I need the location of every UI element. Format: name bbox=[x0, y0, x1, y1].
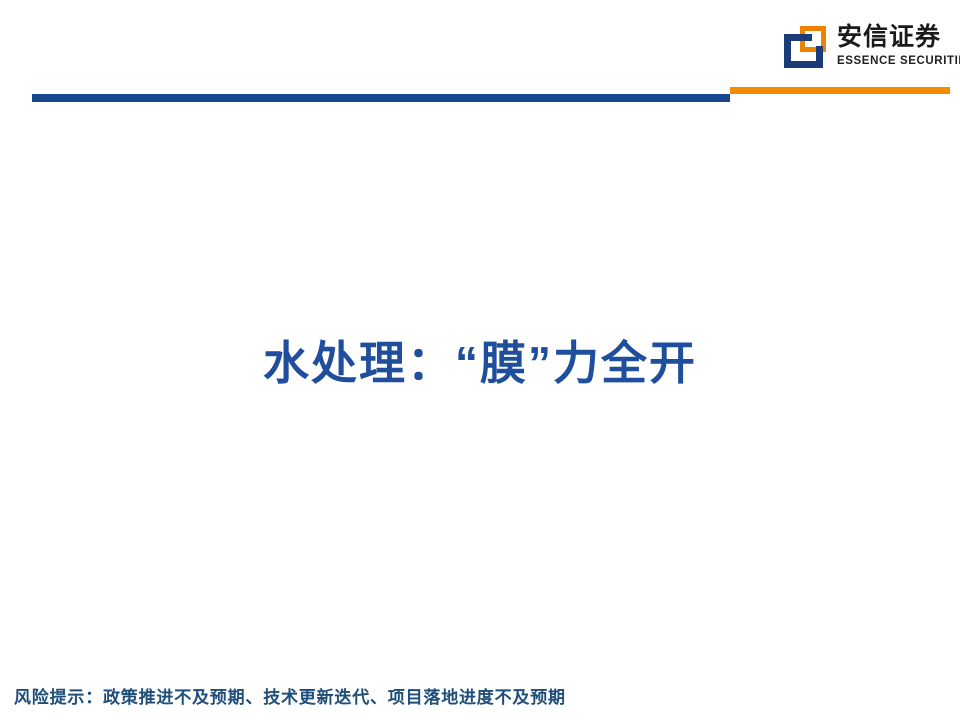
slide-canvas: 安信证券 ESSENCE SECURITIES 水处理：“膜”力全开 风险提示：… bbox=[0, 0, 960, 720]
essence-securities-logo-mark-icon bbox=[782, 24, 828, 70]
brand-name-cn: 安信证券 bbox=[837, 23, 960, 52]
brand-text-block: 安信证券 ESSENCE SECURITIES bbox=[837, 22, 960, 68]
brand-name-en: ESSENCE SECURITIES bbox=[837, 54, 960, 68]
header-rule-blue bbox=[32, 94, 730, 102]
risk-disclosure-note: 风险提示：政策推进不及预期、技术更新迭代、项目落地进度不及预期 bbox=[14, 686, 566, 710]
brand-lockup: 安信证券 ESSENCE SECURITIES bbox=[782, 22, 954, 80]
header-rule-orange bbox=[730, 87, 950, 94]
slide-title: 水处理：“膜”力全开 bbox=[0, 333, 960, 393]
